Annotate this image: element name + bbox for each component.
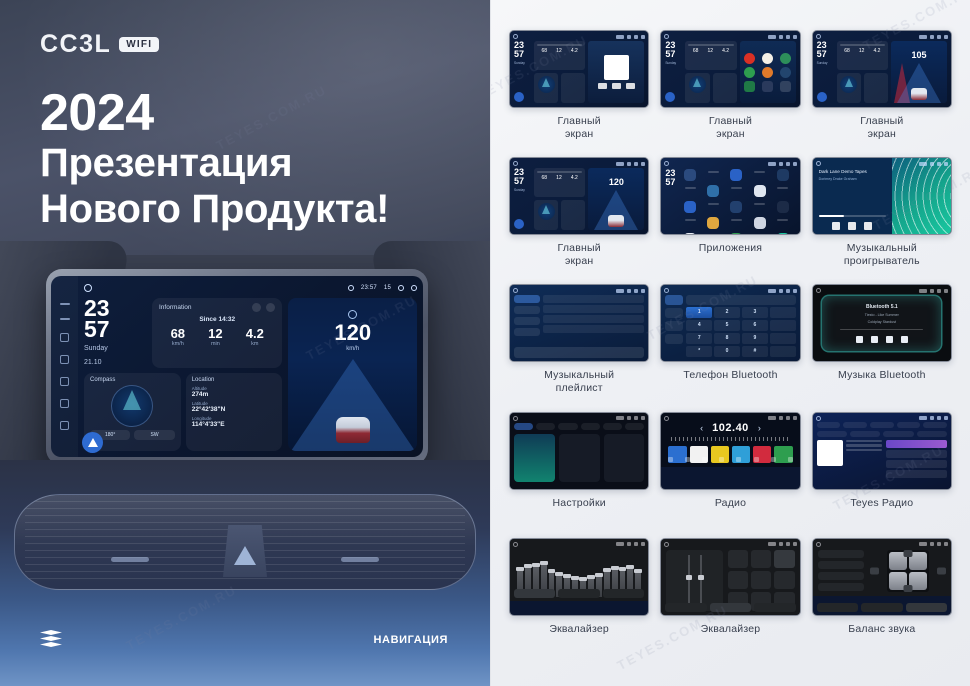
app-icon-radio[interactable] bbox=[762, 67, 773, 78]
mini-home-layout: 23 57 Sunday 68124.2 105 bbox=[813, 31, 951, 107]
mini-clock-mm: 57 bbox=[665, 50, 682, 59]
app-icon-dvr[interactable] bbox=[684, 169, 696, 181]
frequency-scale[interactable] bbox=[671, 437, 789, 441]
eject-icon[interactable] bbox=[60, 318, 70, 320]
mini-info-column: 68124.2 bbox=[534, 168, 585, 230]
list-item[interactable] bbox=[543, 305, 644, 313]
navigation-fab-icon[interactable] bbox=[82, 432, 103, 453]
now-playing-bar[interactable] bbox=[514, 347, 644, 358]
mini-info-column: 68124.2 bbox=[837, 41, 888, 103]
app-icon-all-apps[interactable] bbox=[780, 81, 791, 92]
app-icon-contacts[interactable] bbox=[730, 201, 742, 213]
tab-balance[interactable] bbox=[603, 589, 644, 598]
clock-day: Sunday bbox=[84, 345, 144, 354]
loc-icon[interactable] bbox=[754, 457, 759, 462]
gallery-caption: Главныйэкран bbox=[860, 115, 903, 140]
tab-countries[interactable] bbox=[897, 422, 921, 428]
hazard-triangle-icon bbox=[234, 546, 256, 565]
mini-home-layout: 23 57 Sunday 68124.2 bbox=[661, 31, 799, 107]
app-icon-bluetooth[interactable] bbox=[730, 169, 742, 181]
hazard-button[interactable] bbox=[223, 525, 267, 577]
gallery-item[interactable]: 23 57 Sunday 68124.2 120 bbox=[509, 157, 649, 277]
key-4[interactable]: 4 bbox=[686, 320, 712, 331]
next-icon[interactable] bbox=[901, 336, 908, 343]
preset-jazz[interactable] bbox=[728, 571, 748, 589]
gallery-item[interactable]: Музыкальныйплейлист bbox=[509, 284, 649, 404]
teyes-subtabs[interactable] bbox=[817, 431, 947, 437]
home-circle-icon[interactable] bbox=[816, 288, 821, 293]
information-actions[interactable] bbox=[252, 303, 275, 312]
sidebar-item-tracks[interactable] bbox=[514, 295, 540, 303]
car-graphic bbox=[911, 88, 927, 100]
pause-icon[interactable] bbox=[848, 222, 856, 230]
mini-navigation-panel: 120 bbox=[588, 168, 644, 230]
call-green-icon[interactable] bbox=[770, 346, 796, 357]
app-drawer[interactable] bbox=[661, 158, 799, 234]
previous-icon[interactable] bbox=[856, 336, 863, 343]
compass-direction: SW bbox=[134, 430, 174, 440]
gallery-caption: Баланс звука bbox=[848, 623, 915, 647]
vent-slot-left bbox=[111, 557, 149, 562]
option-all[interactable] bbox=[818, 583, 864, 591]
key-0[interactable]: 0 bbox=[714, 346, 740, 357]
music-player-screen[interactable]: Dark Lane Demo Tapes Dorimey Drake Graha… bbox=[813, 158, 951, 234]
balance-rear-button[interactable] bbox=[903, 585, 912, 592]
screenshot-applications[interactable]: 23 57 bbox=[660, 157, 800, 235]
mini-media-panel bbox=[588, 41, 644, 103]
home-circle-icon[interactable] bbox=[513, 542, 518, 547]
media-controls[interactable] bbox=[598, 83, 635, 89]
balance-front-button[interactable] bbox=[903, 550, 912, 557]
app-icon-maps[interactable] bbox=[730, 233, 742, 235]
equalizer-tabs[interactable] bbox=[817, 603, 947, 612]
gallery-caption: Главныйэкран bbox=[709, 115, 752, 140]
home-circle-icon[interactable] bbox=[84, 284, 92, 292]
fader-pair[interactable] bbox=[666, 550, 722, 611]
mini-nav-fab-icon[interactable] bbox=[514, 92, 524, 102]
page-title: 2024 Презентация Нового Продукта! bbox=[40, 86, 389, 232]
mini-clock-day: Sunday bbox=[817, 61, 834, 65]
screenshot-sound-balance[interactable] bbox=[812, 538, 952, 616]
app-icon-equalizer[interactable] bbox=[777, 201, 789, 213]
station-list[interactable] bbox=[886, 440, 947, 485]
home-circle-icon[interactable] bbox=[664, 34, 669, 39]
sidebar-item-albums[interactable] bbox=[514, 306, 540, 314]
player-controls[interactable] bbox=[856, 336, 908, 343]
grid-icon[interactable] bbox=[788, 457, 793, 462]
expand-icon[interactable] bbox=[266, 303, 275, 312]
mini-compass bbox=[534, 73, 558, 103]
app-icon-camera[interactable] bbox=[754, 185, 766, 197]
clock-and-info: 23 57 Sunday 21.10 Information bbox=[84, 298, 282, 368]
preset-buttons[interactable] bbox=[728, 550, 795, 611]
sidebar-item-keypad[interactable] bbox=[665, 295, 683, 305]
product-brand: CC3L WIFI bbox=[40, 30, 159, 59]
subtab-podcasts[interactable] bbox=[850, 431, 880, 437]
gallery-item[interactable]: 23 57 Sunday 68124.2 bbox=[660, 30, 800, 150]
screenshot-equalizer-presets[interactable] bbox=[660, 538, 800, 616]
list-item[interactable] bbox=[886, 440, 947, 448]
gallery-caption: Настройки bbox=[553, 497, 606, 521]
mini-statusbar bbox=[664, 415, 796, 422]
tab-balance[interactable] bbox=[754, 603, 795, 612]
speed-limit-icon bbox=[348, 310, 357, 319]
app-icon-settings[interactable] bbox=[762, 81, 773, 92]
screenshot-music-playlist[interactable] bbox=[509, 284, 649, 362]
phone-number-field[interactable] bbox=[686, 295, 795, 305]
tab-eq[interactable] bbox=[817, 603, 858, 612]
gallery-item[interactable]: ‹ 102.40 › bbox=[660, 412, 800, 531]
equalizer-tabs[interactable] bbox=[665, 603, 795, 612]
gallery-item[interactable]: Настройки bbox=[509, 412, 649, 531]
latitude-group: Latitude 22°42'38"N bbox=[192, 401, 277, 413]
gallery-item[interactable]: Bluetooth 5.1 Tiesto - Like Summer Coldp… bbox=[812, 284, 952, 404]
gallery-item[interactable]: Эквалайзер bbox=[509, 538, 649, 657]
altitude-value: 274m bbox=[192, 391, 277, 398]
app-icon-bluetooth-music[interactable] bbox=[777, 169, 789, 181]
home-circle-icon[interactable] bbox=[816, 416, 821, 421]
mini-statusbar bbox=[513, 33, 645, 40]
preset-rock[interactable] bbox=[751, 550, 771, 568]
key-3[interactable]: 3 bbox=[742, 307, 768, 318]
mini-statusbar bbox=[664, 541, 796, 548]
mini-statusbar bbox=[816, 287, 948, 294]
player-info: Dark Lane Demo Tapes Dorimey Drake Graha… bbox=[813, 158, 893, 234]
card-more[interactable] bbox=[604, 434, 645, 482]
tab-fader[interactable] bbox=[558, 589, 599, 598]
bluetooth-version: Bluetooth 5.1 bbox=[866, 304, 898, 310]
tab-apps[interactable] bbox=[581, 423, 600, 430]
player-controls[interactable] bbox=[813, 222, 893, 230]
screenshot-home-nav[interactable]: 23 57 Sunday 68124.2 120 bbox=[509, 157, 649, 235]
stat-time: 12 min bbox=[208, 326, 222, 347]
navigation-label: НАВИГАЦИЯ bbox=[374, 634, 448, 646]
gallery-caption: Эквалайзер bbox=[701, 623, 761, 647]
mini-info-column: 68124.2 bbox=[685, 41, 736, 103]
settings-screen[interactable] bbox=[510, 413, 648, 489]
app-icon-file-manager[interactable] bbox=[707, 217, 719, 229]
navigation-preview[interactable]: 120 km/h bbox=[288, 298, 417, 451]
stat-speed: 68 km/h bbox=[171, 326, 185, 347]
list-item[interactable] bbox=[886, 460, 947, 468]
wifi-badge: WIFI bbox=[119, 37, 159, 53]
mini-speed-value: 105 bbox=[891, 50, 947, 60]
screenshot-settings[interactable] bbox=[509, 412, 649, 490]
radio-toolbar[interactable] bbox=[664, 456, 796, 464]
tab-fader[interactable] bbox=[861, 603, 902, 612]
home-circle-icon[interactable] bbox=[816, 34, 821, 39]
dial-pad[interactable]: 123 456 789 *0# bbox=[686, 307, 795, 357]
stat-time-unit: min bbox=[208, 341, 222, 347]
key-6[interactable]: 6 bbox=[742, 320, 768, 331]
tab-display[interactable] bbox=[558, 423, 577, 430]
balance-pad[interactable] bbox=[870, 550, 946, 592]
longitude-value: 114°4'33"E bbox=[192, 421, 277, 428]
list-item[interactable] bbox=[886, 450, 947, 458]
screenshot-home-road[interactable]: 23 57 Sunday 68124.2 105 bbox=[812, 30, 952, 108]
gallery-caption: Главныйэкран bbox=[558, 242, 601, 267]
sidebar-item-folders[interactable] bbox=[514, 328, 540, 336]
tab-system[interactable] bbox=[625, 423, 644, 430]
prev-station-icon[interactable]: ‹ bbox=[700, 423, 703, 433]
gallery-item[interactable]: 123 456 789 *0# Телефон Bluetooth bbox=[660, 284, 800, 404]
trip-stats: 68 km/h 12 min bbox=[159, 326, 275, 347]
tab-all[interactable] bbox=[817, 422, 841, 428]
app-icon-chrome[interactable] bbox=[762, 53, 773, 64]
dialer-screen[interactable]: 123 456 789 *0# bbox=[661, 285, 799, 361]
location-card[interactable]: Location Altitude 274m Latitude 22° bbox=[186, 373, 283, 451]
balance-options[interactable] bbox=[818, 550, 864, 592]
option-driver[interactable] bbox=[818, 550, 864, 558]
information-title: Information bbox=[159, 304, 192, 311]
screens-gallery-panel: 23 57 Sunday 68124.2 bbox=[490, 0, 970, 686]
list-item[interactable] bbox=[543, 325, 644, 333]
screenshot-radio[interactable]: ‹ 102.40 › bbox=[660, 412, 800, 490]
rds-icon[interactable] bbox=[719, 457, 724, 462]
dialer-main[interactable]: 123 456 789 *0# bbox=[686, 295, 795, 357]
back-arrow-icon[interactable] bbox=[411, 285, 417, 291]
layers-icon bbox=[40, 630, 62, 648]
dashboard-lower bbox=[0, 460, 490, 686]
gallery-caption: Эквалайзер bbox=[549, 623, 609, 647]
card-carplay[interactable] bbox=[559, 434, 600, 482]
option-front[interactable] bbox=[818, 561, 864, 569]
screenshot-bluetooth-music[interactable]: Bluetooth 5.1 Tiesto - Like Summer Coldp… bbox=[812, 284, 952, 362]
mini-statusbar bbox=[816, 160, 948, 167]
settings-tabs[interactable] bbox=[514, 423, 644, 430]
home-circle-icon[interactable] bbox=[513, 161, 518, 166]
stat-speed-value: 68 bbox=[171, 326, 185, 341]
preset-classic[interactable] bbox=[774, 550, 794, 568]
left-hero-panel: CC3L WIFI 2024 Презентация Нового Продук… bbox=[0, 0, 490, 686]
home-circle-icon[interactable] bbox=[513, 288, 518, 293]
unit-body: 23 57 Sunday 21.10 Information bbox=[84, 294, 417, 451]
mini-app-shortcuts[interactable] bbox=[740, 41, 796, 103]
key-star[interactable]: * bbox=[686, 346, 712, 357]
key-5[interactable]: 5 bbox=[714, 320, 740, 331]
mini-statusbar bbox=[664, 33, 796, 40]
tab-favorites[interactable] bbox=[923, 422, 947, 428]
next-station-icon[interactable]: › bbox=[758, 423, 761, 433]
app-icon-gallery[interactable] bbox=[754, 217, 766, 229]
home-circle-icon[interactable] bbox=[816, 161, 821, 166]
key-9[interactable]: 9 bbox=[742, 333, 768, 344]
home-circle-icon[interactable] bbox=[513, 416, 518, 421]
app-icon-youtube[interactable] bbox=[744, 53, 755, 64]
mini-clock-day: Sunday bbox=[514, 188, 531, 192]
playlist-screen[interactable] bbox=[510, 285, 648, 361]
volume-up-icon[interactable] bbox=[60, 399, 69, 408]
subtab-search[interactable] bbox=[883, 431, 913, 437]
home-circle-icon[interactable] bbox=[664, 416, 669, 421]
tab-eq[interactable] bbox=[514, 589, 555, 598]
key-1[interactable]: 1 bbox=[686, 307, 712, 318]
equalizer-tabs[interactable] bbox=[514, 589, 644, 598]
mini-speed-value: 120 bbox=[588, 177, 644, 187]
dashboard-upper: 23:57 15 23 bbox=[0, 255, 490, 480]
preset-vocal[interactable] bbox=[751, 571, 771, 589]
stat-speed-unit: km/h bbox=[171, 341, 185, 347]
sidebar-item-artists[interactable] bbox=[514, 317, 540, 325]
stop-icon[interactable] bbox=[886, 336, 893, 343]
tab-genres[interactable] bbox=[843, 422, 867, 428]
tab-wifi[interactable] bbox=[514, 423, 533, 430]
previous-icon[interactable] bbox=[832, 222, 840, 230]
gallery-item[interactable]: Баланс звука bbox=[812, 538, 952, 657]
home-circle-icon[interactable] bbox=[513, 34, 518, 39]
bluetooth-music-screen[interactable]: Bluetooth 5.1 Tiesto - Like Summer Coldp… bbox=[813, 285, 951, 361]
subtab-recent[interactable] bbox=[917, 431, 947, 437]
seek-bar[interactable] bbox=[840, 329, 923, 331]
screenshot-home-media[interactable]: 23 57 Sunday 68124.2 bbox=[509, 30, 649, 108]
screenshot-teyes-radio[interactable] bbox=[812, 412, 952, 490]
sidebar-item-call-log[interactable] bbox=[665, 334, 683, 344]
bt-track-artist: Coldplay Stardust bbox=[868, 320, 896, 324]
tab-balance[interactable] bbox=[906, 603, 947, 612]
app-icon-calculator[interactable] bbox=[707, 185, 719, 197]
volume-down-icon[interactable] bbox=[60, 421, 69, 430]
bt-track-title: Tiesto - Like Summer bbox=[865, 313, 899, 317]
gallery-item[interactable]: 23 57 Приложения bbox=[660, 157, 800, 277]
key-8[interactable]: 8 bbox=[714, 333, 740, 344]
key-2[interactable]: 2 bbox=[714, 307, 740, 318]
list-item[interactable] bbox=[543, 315, 644, 323]
next-icon[interactable] bbox=[864, 222, 872, 230]
list-icon[interactable] bbox=[702, 457, 707, 462]
sidebar-item-contacts[interactable] bbox=[665, 308, 683, 318]
app-icon-play-store[interactable] bbox=[744, 81, 755, 92]
menu-icon[interactable] bbox=[60, 303, 70, 305]
teyes-body bbox=[817, 440, 947, 485]
gallery-caption: Радио bbox=[715, 497, 746, 521]
app-icon-maps[interactable] bbox=[780, 53, 791, 64]
app-icon-google[interactable] bbox=[684, 233, 696, 235]
star-icon[interactable] bbox=[770, 307, 796, 318]
subtab-radio[interactable] bbox=[817, 431, 847, 437]
headline-line-2: Нового Продукта! bbox=[40, 187, 389, 233]
home-icon[interactable] bbox=[60, 355, 69, 364]
gallery-item[interactable]: 23 57 Sunday 68124.2 105 bbox=[812, 30, 952, 150]
track-title: Dark Lane Demo Tapes bbox=[819, 169, 887, 174]
unit-side-rail[interactable] bbox=[51, 276, 78, 457]
teyes-tabs[interactable] bbox=[817, 422, 947, 428]
list-item[interactable] bbox=[543, 295, 644, 303]
now-playing-block bbox=[817, 440, 882, 485]
band-icon[interactable] bbox=[668, 457, 673, 462]
gallery-item[interactable]: Teyes Радио bbox=[812, 412, 952, 531]
mini-clock-mm: 57 bbox=[665, 177, 675, 187]
speed-readout: 120 km/h bbox=[288, 310, 417, 352]
mini-statusbar bbox=[513, 541, 645, 548]
app-icon-spotify[interactable] bbox=[744, 67, 755, 78]
preset-pop[interactable] bbox=[728, 550, 748, 568]
car-graphic bbox=[608, 215, 624, 227]
power-icon[interactable] bbox=[60, 333, 69, 342]
home-circle-icon[interactable] bbox=[664, 288, 669, 293]
longitude-group: Longitude 114°4'33"E bbox=[192, 416, 277, 428]
radio-tuner[interactable]: ‹ 102.40 › bbox=[665, 422, 795, 434]
gallery-item[interactable]: 23 57 Sunday 68124.2 bbox=[509, 30, 649, 150]
car-graphic bbox=[336, 417, 370, 443]
card-wifi[interactable] bbox=[514, 434, 555, 482]
settings-icon[interactable] bbox=[398, 285, 404, 291]
mini-clock-mm: 57 bbox=[817, 50, 834, 59]
track-artist: Dorimey Drake Graham bbox=[819, 177, 887, 181]
app-icon-chrome[interactable] bbox=[684, 201, 696, 213]
fader-treble[interactable] bbox=[700, 555, 702, 606]
home-circle-icon[interactable] bbox=[664, 161, 669, 166]
preset-dance[interactable] bbox=[774, 571, 794, 589]
tab-cities[interactable] bbox=[870, 422, 894, 428]
app-icon-files[interactable] bbox=[780, 67, 791, 78]
equalizer-screen[interactable] bbox=[510, 539, 648, 601]
refresh-icon[interactable] bbox=[252, 303, 261, 312]
tab-sound[interactable] bbox=[536, 423, 555, 430]
play-pause-icon[interactable] bbox=[871, 336, 878, 343]
information-card[interactable]: Information Since 14:32 bbox=[152, 298, 282, 368]
tab-eq[interactable] bbox=[665, 603, 706, 612]
mini-clock-mm: 57 bbox=[514, 177, 531, 186]
eq-icon[interactable] bbox=[736, 457, 741, 462]
mini-nav-fab-icon[interactable] bbox=[817, 92, 827, 102]
screenshot-home-apps[interactable]: 23 57 Sunday 68124.2 bbox=[660, 30, 800, 108]
teyes-radio-screen[interactable] bbox=[813, 413, 951, 489]
presentation-slide: CC3L WIFI 2024 Презентация Нового Продук… bbox=[0, 0, 970, 686]
call-icon[interactable] bbox=[770, 333, 796, 344]
head-unit-bezel: 23:57 15 23 bbox=[46, 269, 428, 465]
settings-cards[interactable] bbox=[514, 434, 644, 482]
sidebar-item-search[interactable] bbox=[665, 321, 683, 331]
station-meta bbox=[846, 440, 882, 485]
screenshot-bluetooth-phone[interactable]: 123 456 789 *0# bbox=[660, 284, 800, 362]
home-circle-icon[interactable] bbox=[816, 542, 821, 547]
mini-statusbar bbox=[513, 160, 645, 167]
gallery-caption: Музыкальныйплейлист bbox=[544, 369, 614, 394]
option-rear[interactable] bbox=[818, 572, 864, 580]
tab-fader[interactable] bbox=[710, 603, 751, 612]
stat-time-value: 12 bbox=[208, 326, 222, 341]
balance-right-button[interactable] bbox=[937, 567, 946, 574]
key-hash[interactable]: # bbox=[742, 346, 768, 357]
fader-bass[interactable] bbox=[688, 555, 690, 606]
radio-frequency: 102.40 bbox=[712, 422, 749, 434]
dialer-sidebar[interactable] bbox=[665, 295, 683, 357]
settings-icon[interactable] bbox=[771, 457, 776, 462]
seek-bar[interactable] bbox=[819, 215, 887, 217]
gallery-item[interactable]: Dark Lane Demo Tapes Dorimey Drake Graha… bbox=[812, 157, 952, 277]
key-7[interactable]: 7 bbox=[686, 333, 712, 344]
gallery-item[interactable]: Эквалайзер bbox=[660, 538, 800, 657]
scan-icon[interactable] bbox=[685, 457, 690, 462]
screenshot-equalizer-bands[interactable] bbox=[509, 538, 649, 616]
backspace-icon[interactable] bbox=[770, 320, 796, 331]
list-item[interactable] bbox=[886, 470, 947, 478]
home-circle-icon[interactable] bbox=[664, 542, 669, 547]
screenshot-music-player[interactable]: Dark Lane Demo Tapes Dorimey Drake Graha… bbox=[812, 157, 952, 235]
station-artwork bbox=[817, 440, 843, 466]
back-icon[interactable] bbox=[60, 377, 69, 386]
clock-widget: 23 57 Sunday 21.10 bbox=[84, 298, 144, 368]
mini-statusbar bbox=[664, 160, 796, 167]
unit-left-column: 23 57 Sunday 21.10 Information bbox=[84, 298, 282, 451]
balance-left-button[interactable] bbox=[870, 567, 879, 574]
bluetooth-card: Bluetooth 5.1 Tiesto - Like Summer Coldp… bbox=[822, 296, 941, 351]
stat-distance: 4.2 km bbox=[246, 326, 264, 347]
information-header: Information bbox=[159, 303, 275, 312]
unit-statusbar: 23:57 15 bbox=[84, 281, 417, 294]
app-icon-music-player[interactable] bbox=[777, 233, 789, 235]
tab-general[interactable] bbox=[603, 423, 622, 430]
